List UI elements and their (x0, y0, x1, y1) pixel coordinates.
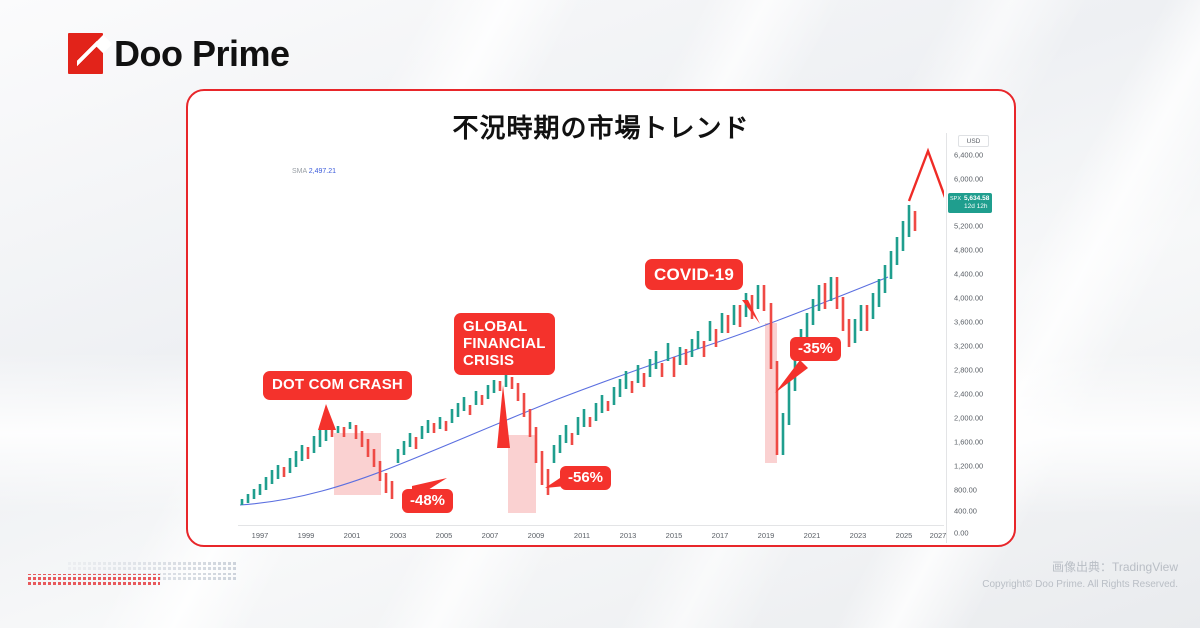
price-tick: 3,600.00 (954, 318, 983, 327)
time-tick: 2005 (436, 531, 453, 540)
price-tick: 2,400.00 (954, 390, 983, 399)
price-tick: 800.00 (954, 486, 977, 495)
image-source-credit: 画像出典：TradingView (1052, 558, 1178, 575)
symbol-chip-value: 5,634.58 (964, 195, 989, 202)
brand-logo: Doo Prime (68, 33, 290, 74)
sma-prefix: SMA (292, 168, 307, 175)
sma-value: 2,497.21 (309, 168, 336, 175)
time-tick: 2001 (344, 531, 361, 540)
price-tick: 4,000.00 (954, 294, 983, 303)
drawdown-badge-56: -56% (560, 466, 611, 490)
price-tick: 4,800.00 (954, 246, 983, 255)
time-tick: 2025 (896, 531, 913, 540)
currency-chip: USD (958, 135, 989, 147)
time-tick: 2017 (712, 531, 729, 540)
price-tick: 400.00 (954, 507, 977, 516)
price-tick: 0.00 (954, 529, 969, 538)
time-axis[interactable]: 1997 1999 2001 2003 2005 2007 2009 2011 … (238, 525, 944, 543)
decorative-dot-pattern (28, 562, 278, 592)
sma-readout: SMA 2,497.21 (292, 168, 336, 175)
price-tick: 1,600.00 (954, 438, 983, 447)
time-tick: 2009 (528, 531, 545, 540)
time-tick: 2023 (850, 531, 867, 540)
symbol-chip-sub: 12d 12h (964, 203, 988, 210)
price-tick: 4,400.00 (954, 270, 983, 279)
annotation-global-financial-crisis: GLOBAL FINANCIAL CRISIS (454, 313, 555, 375)
time-tick: 2019 (758, 531, 775, 540)
price-tick: 6,400.00 (954, 151, 983, 160)
time-tick: 2021 (804, 531, 821, 540)
doo-prime-logo-icon (68, 33, 103, 74)
chart-container: SMA 2,497.21 USD 6,400.00 6,000.00 5,200… (238, 133, 998, 543)
time-tick: 2027 (930, 531, 947, 540)
drawdown-badge-48: -48% (402, 489, 453, 513)
price-tick: 5,200.00 (954, 222, 983, 231)
time-tick: 2011 (574, 531, 590, 540)
time-tick: 1999 (298, 531, 315, 540)
time-tick: 2013 (620, 531, 637, 540)
price-tick: 3,200.00 (954, 342, 983, 351)
time-tick: 2007 (482, 531, 499, 540)
copyright-notice: Copyright© Doo Prime. All Rights Reserve… (982, 579, 1178, 590)
symbol-chip-label: SPX (950, 195, 961, 203)
price-tick: 6,000.00 (954, 175, 983, 184)
brand-name: Doo Prime (114, 36, 290, 72)
price-tick: 1,200.00 (954, 462, 983, 471)
annotation-dot-com-crash: DOT COM CRASH (263, 371, 412, 400)
event-band-gfc (508, 435, 536, 513)
price-axis[interactable]: USD 6,400.00 6,000.00 5,200.00 4,800.00 … (946, 133, 998, 543)
time-tick: 2003 (390, 531, 407, 540)
projection-arrow (909, 151, 944, 355)
annotation-covid-19: COVID-19 (645, 259, 743, 290)
drawdown-badge-35: -35% (790, 337, 841, 361)
price-tick: 2,000.00 (954, 414, 983, 423)
time-tick: 1997 (252, 531, 269, 540)
time-tick: 2015 (666, 531, 683, 540)
symbol-price-chip[interactable]: SPX 5,634.58 12d 12h (948, 193, 992, 213)
price-tick: 2,800.00 (954, 366, 983, 375)
